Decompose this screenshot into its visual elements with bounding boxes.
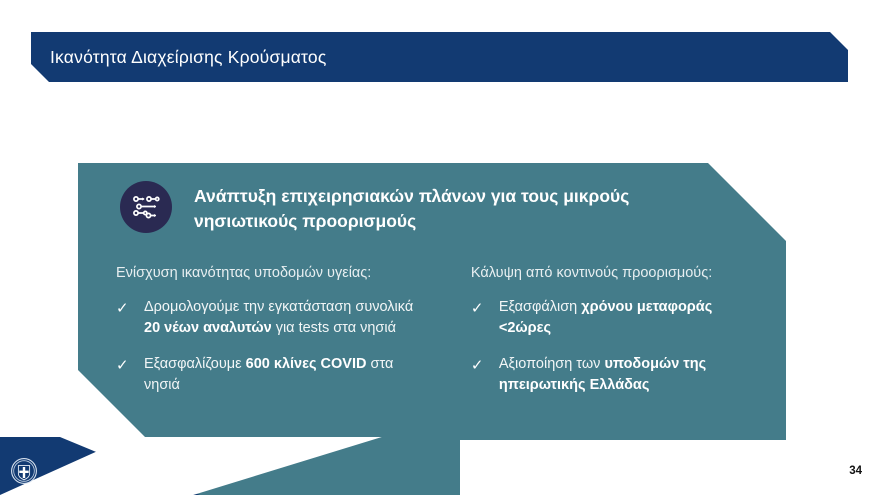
list-item: ✓ Δρομολογούμε την εγκατάσταση συνολικά … [116,297,426,339]
panel-heading: Ανάπτυξη επιχειρησιακών πλάνων για τους … [194,177,694,235]
check-icon: ✓ [471,297,488,320]
check-icon: ✓ [471,354,488,377]
page-number: 34 [849,465,862,477]
list-item: ✓ Εξασφάλιση χρόνου μεταφοράς <2ώρες [471,297,766,339]
greek-coat-of-arms-emblem [10,457,38,485]
page-title: Ικανότητα Διαχείρισης Κρούσματος [31,47,326,68]
bullet-text: Εξασφαλίζουμε 600 κλίνες COVID στα νησιά [144,354,426,396]
bullet-text: Εξασφάλιση χρόνου μεταφοράς <2ώρες [499,297,766,339]
slide-canvas: Ικανότητα Διαχείρισης Κρούσματος [0,0,880,495]
column-heading: Ενίσχυση ικανότητας υποδομών υγείας: [116,263,426,283]
bullet-text: Αξιοποίηση των υποδομών της ηπειρωτικής … [499,354,766,396]
panel-header: Ανάπτυξη επιχειρησιακών πλάνων για τους … [120,177,700,235]
column-nearby-destinations: Κάλυψη από κοντινούς προορισμούς: ✓ Εξασ… [471,263,766,411]
check-icon: ✓ [116,297,133,320]
content-panel: Ανάπτυξη επιχειρησιακών πλάνων για τους … [78,163,786,440]
footer-teal-wedge [130,437,460,495]
slide-title-banner: Ικανότητα Διαχείρισης Κρούσματος [31,32,848,82]
column-heading: Κάλυψη από κοντινούς προορισμούς: [471,263,766,283]
list-item: ✓ Εξασφαλίζουμε 600 κλίνες COVID στα νησ… [116,354,426,396]
check-icon: ✓ [116,354,133,377]
list-item: ✓ Αξιοποίηση των υποδομών της ηπειρωτική… [471,354,766,396]
column-health-infrastructure: Ενίσχυση ικανότητας υποδομών υγείας: ✓ Δ… [116,263,426,411]
process-flow-icon [120,181,172,233]
bullet-text: Δρομολογούμε την εγκατάσταση συνολικά 20… [144,297,426,339]
panel-columns: Ενίσχυση ικανότητας υποδομών υγείας: ✓ Δ… [116,263,766,411]
